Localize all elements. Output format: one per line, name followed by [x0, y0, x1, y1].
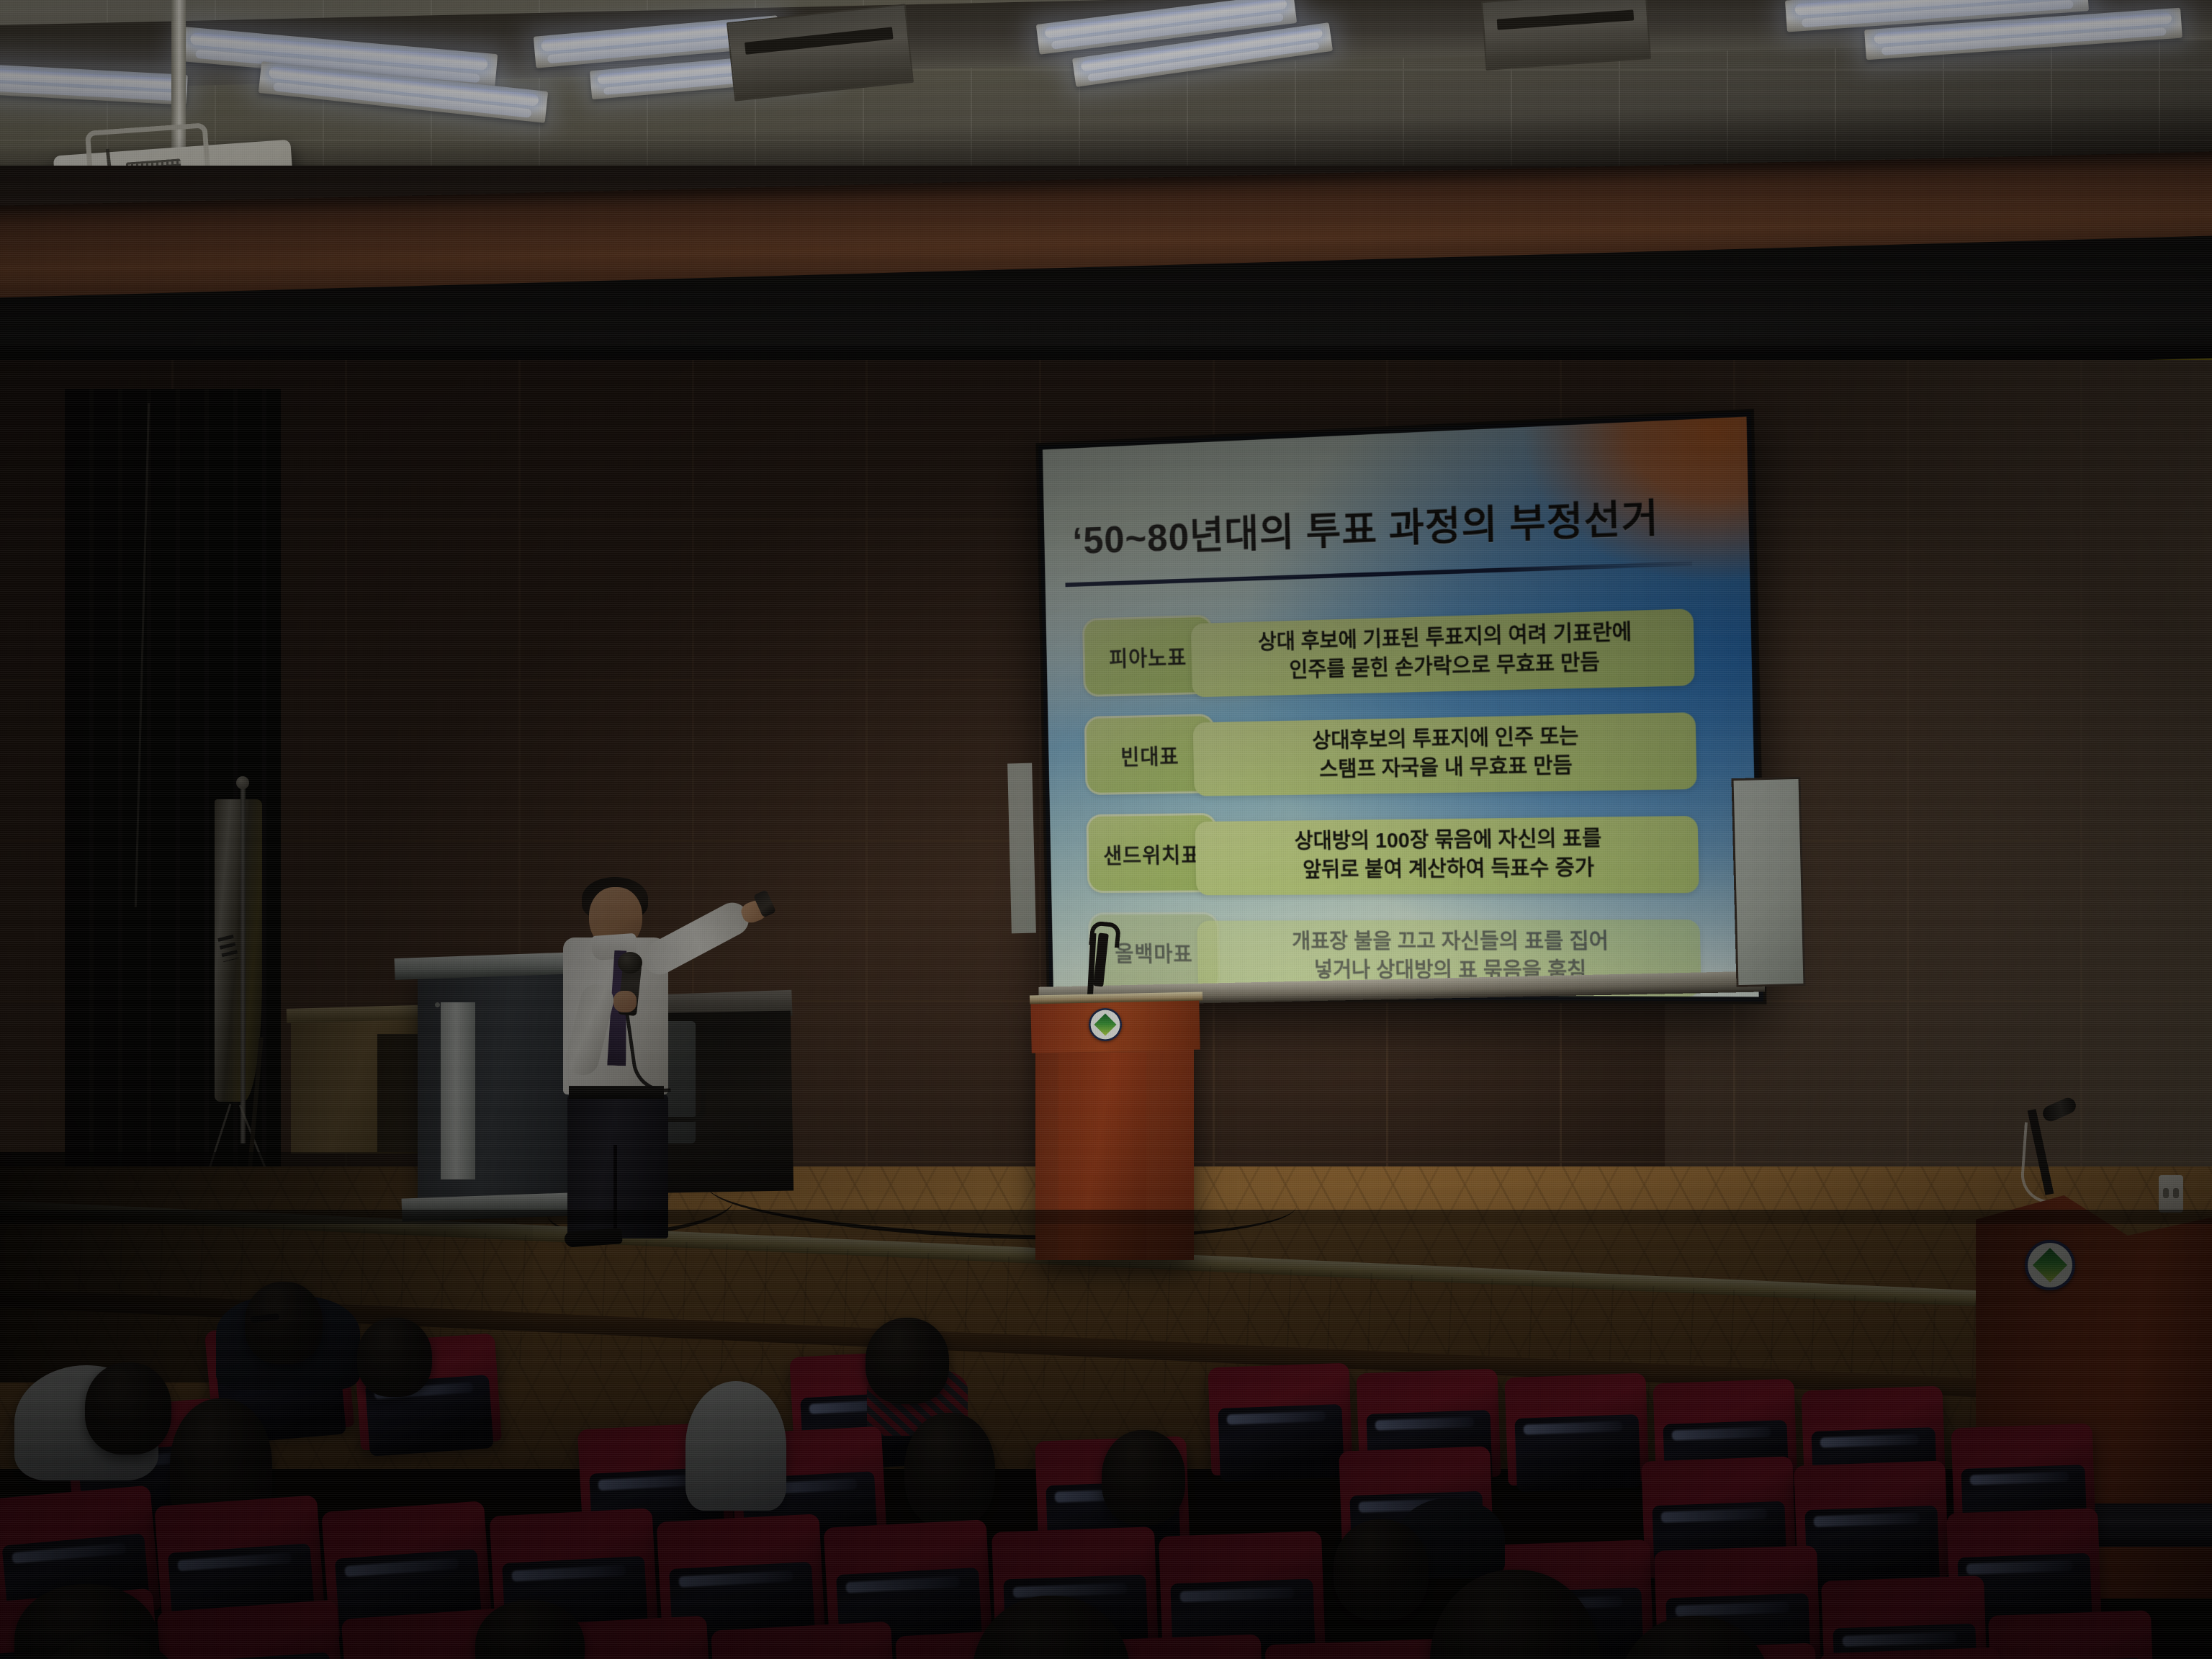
audience-member-head: [85, 1362, 171, 1455]
seat: [1988, 1610, 2155, 1659]
seat: [1821, 1575, 1988, 1659]
wall-vignette: [0, 346, 2212, 1224]
audience-member-head: [1102, 1430, 1185, 1525]
audience-seating: [0, 1210, 2212, 1659]
audience-member-head: [904, 1413, 995, 1528]
audience-member-head: [1334, 1519, 1429, 1620]
audience-member-head: [245, 1282, 323, 1364]
audience-member-head: [866, 1318, 949, 1404]
audience-member-hoodie: [685, 1381, 786, 1511]
auditorium-photo: ‘50~80년대의 투표 과정의 부정선거 피아노표 상대 후보에 기표된 투표…: [0, 0, 2212, 1659]
seat: [1504, 1373, 1649, 1486]
audience-member-head: [357, 1318, 432, 1397]
seat: [1208, 1363, 1352, 1476]
ceiling-air-vent: [1481, 0, 1651, 71]
